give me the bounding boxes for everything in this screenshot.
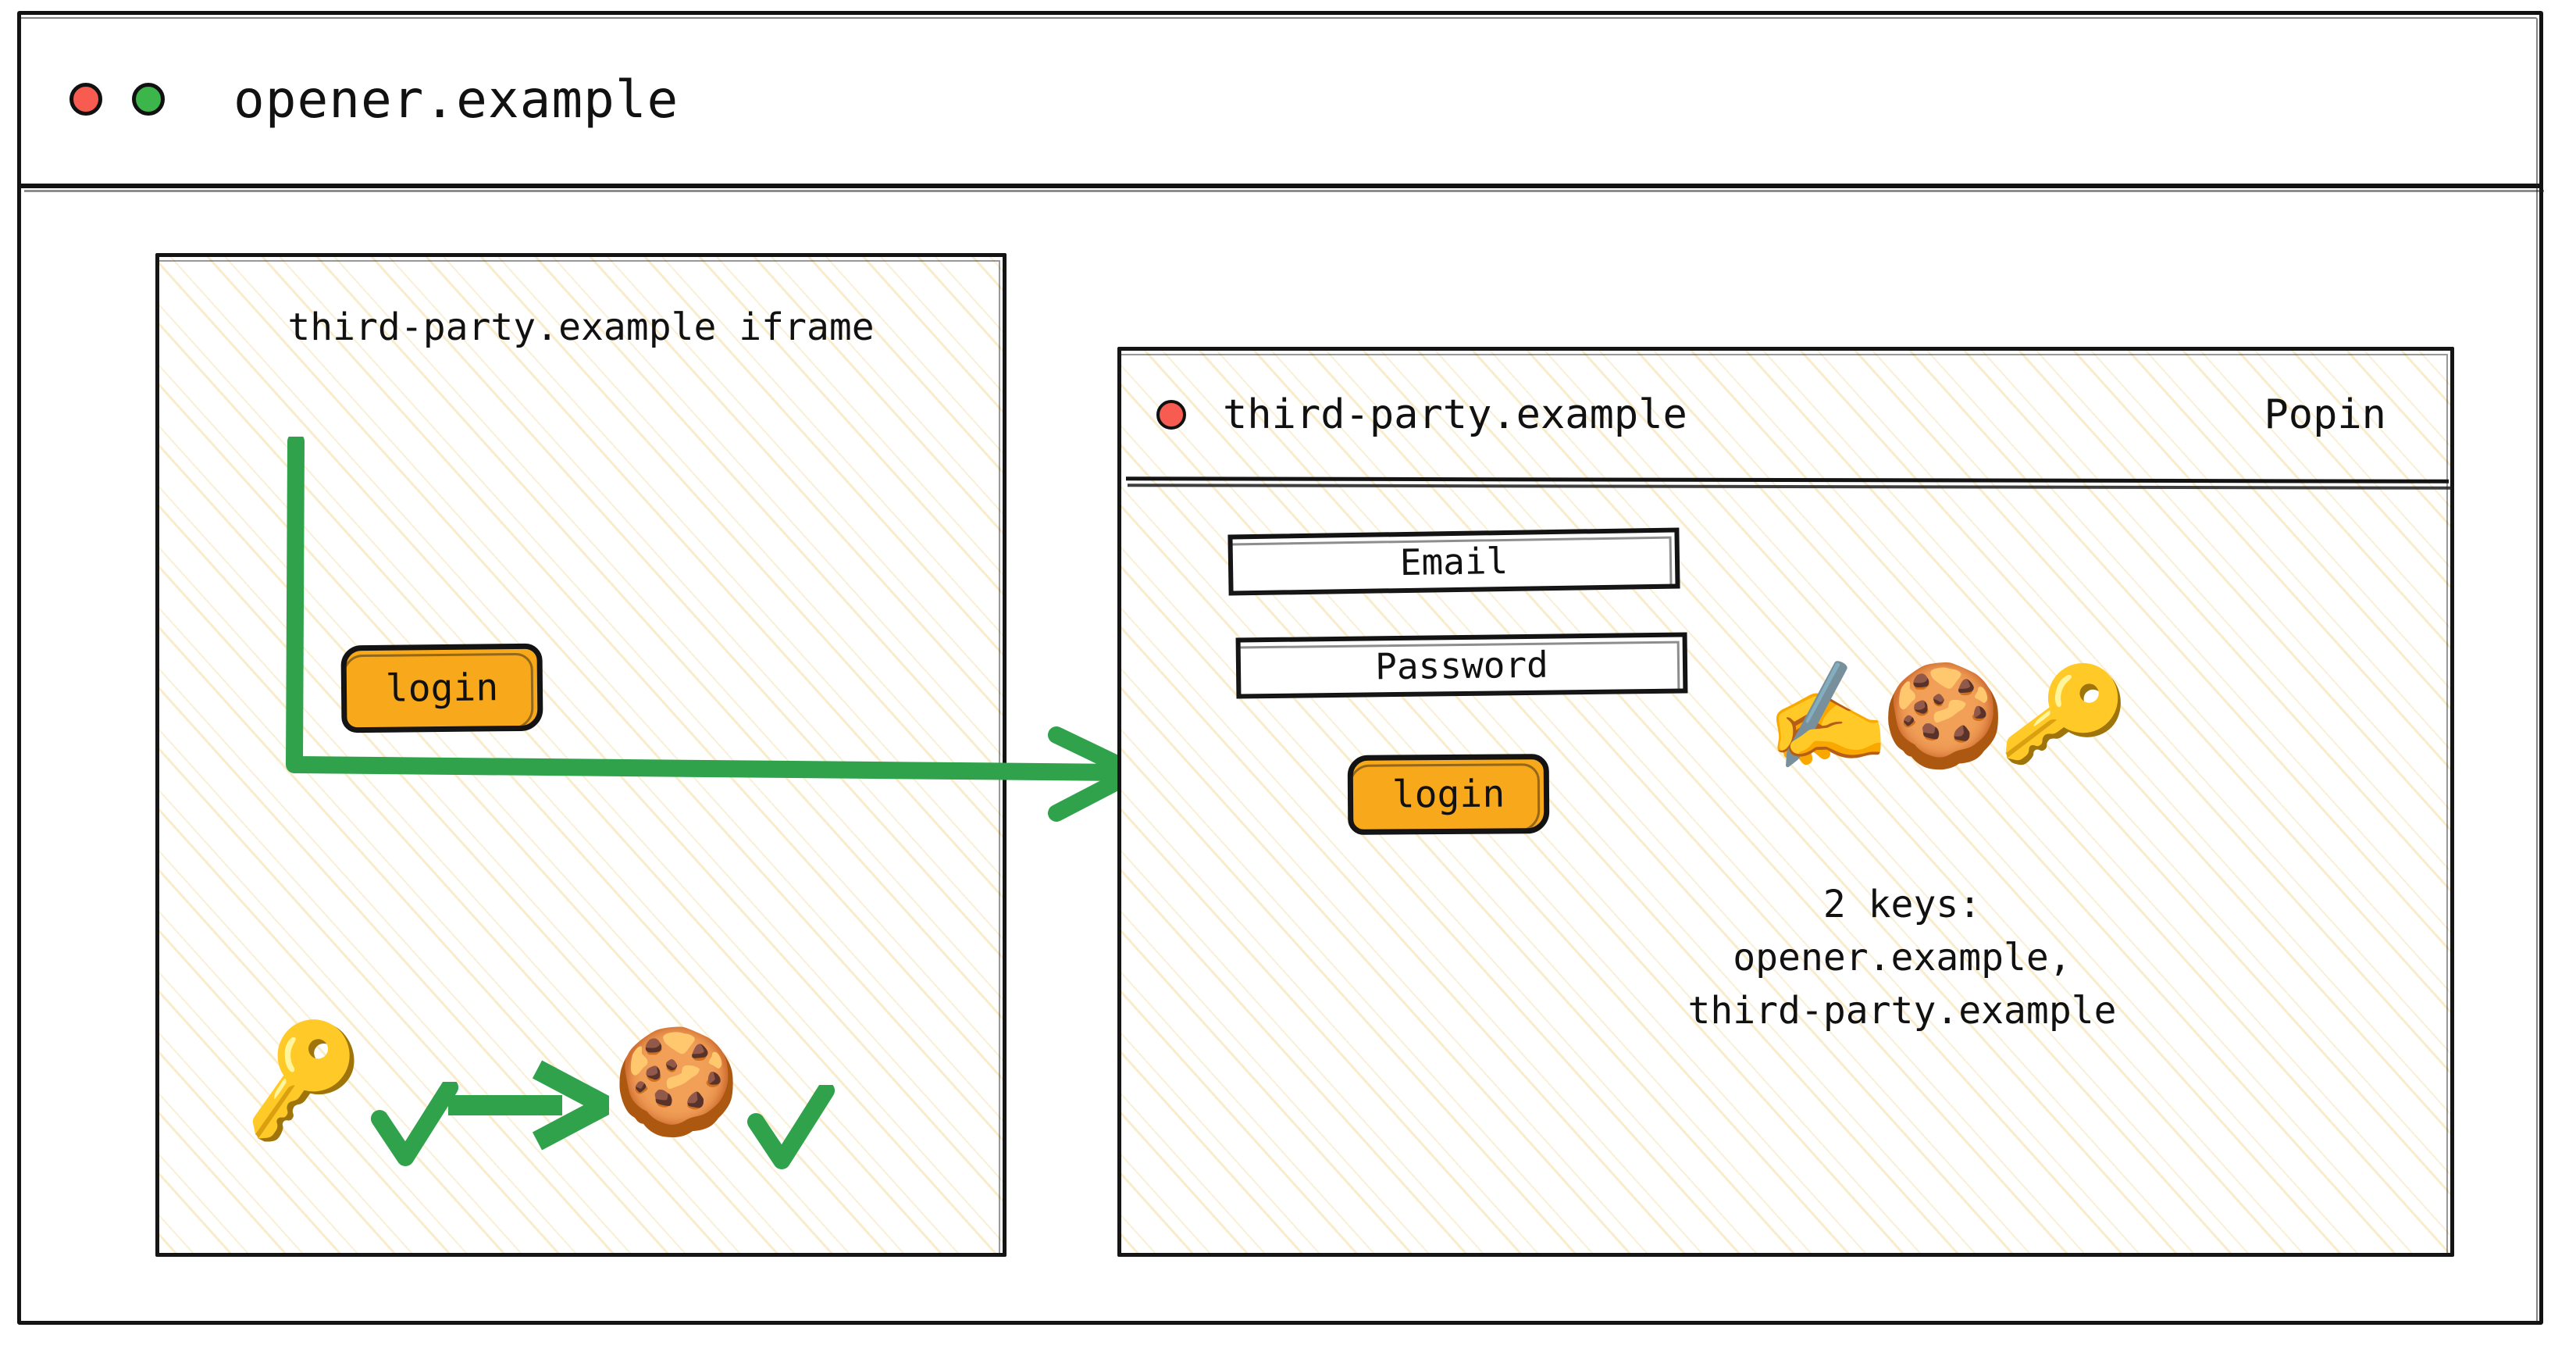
popup-origin-label: third-party.example [1223,391,1687,438]
iframe-login-button-label: login [385,666,498,711]
keys-note-line-3: third-party.example [1605,984,2199,1037]
password-field-label: Password [1375,644,1548,688]
keys-note: 2 keys: opener.example, third-party.exam… [1605,878,2199,1037]
keys-note-line-2: opener.example, [1605,931,2199,984]
window-title: opener.example [233,70,679,130]
right-arrow-icon [445,1058,609,1152]
minimize-dot[interactable] [132,83,165,116]
popup-header: third-party.example Popin [1121,351,2450,478]
cookie-icon: 🍪 [1881,666,2005,766]
popup-emoji-row: ✍️ 🍪 🔑 [1763,666,2127,766]
email-field[interactable]: Email [1227,527,1680,595]
popup-login-button-label: login [1392,772,1505,816]
keys-note-line-1: 2 keys: [1605,878,2199,931]
popup-kind-label: Popin [2264,391,2386,438]
iframe-label: third-party.example iframe [159,305,1003,349]
close-dot[interactable] [69,83,102,116]
popup-window-panel: third-party.example Popin Email Password… [1117,347,2454,1257]
writing-hand-icon: ✍️ [1757,658,1894,775]
popup-close-dot[interactable] [1156,400,1186,430]
iframe-login-button[interactable]: login [340,644,543,733]
popup-login-button[interactable]: login [1348,754,1550,835]
browser-title-bar: opener.example [21,15,2539,188]
browser-window: opener.example third-party.example ifram… [17,11,2543,1325]
third-party-iframe-panel: third-party.example iframe login 🔑 🍪 [155,253,1007,1257]
key-icon: 🔑 [1997,658,2134,775]
key-icon: 🔑 [230,1017,374,1141]
cookie-allowed-check-icon [745,1085,837,1177]
iframe-storage-flow: 🔑 🍪 [237,1007,940,1210]
email-field-label: Email [1399,540,1508,583]
cookie-icon: 🍪 [612,1030,740,1133]
diagram-canvas: opener.example third-party.example ifram… [0,0,2576,1356]
password-field[interactable]: Password [1236,632,1688,698]
